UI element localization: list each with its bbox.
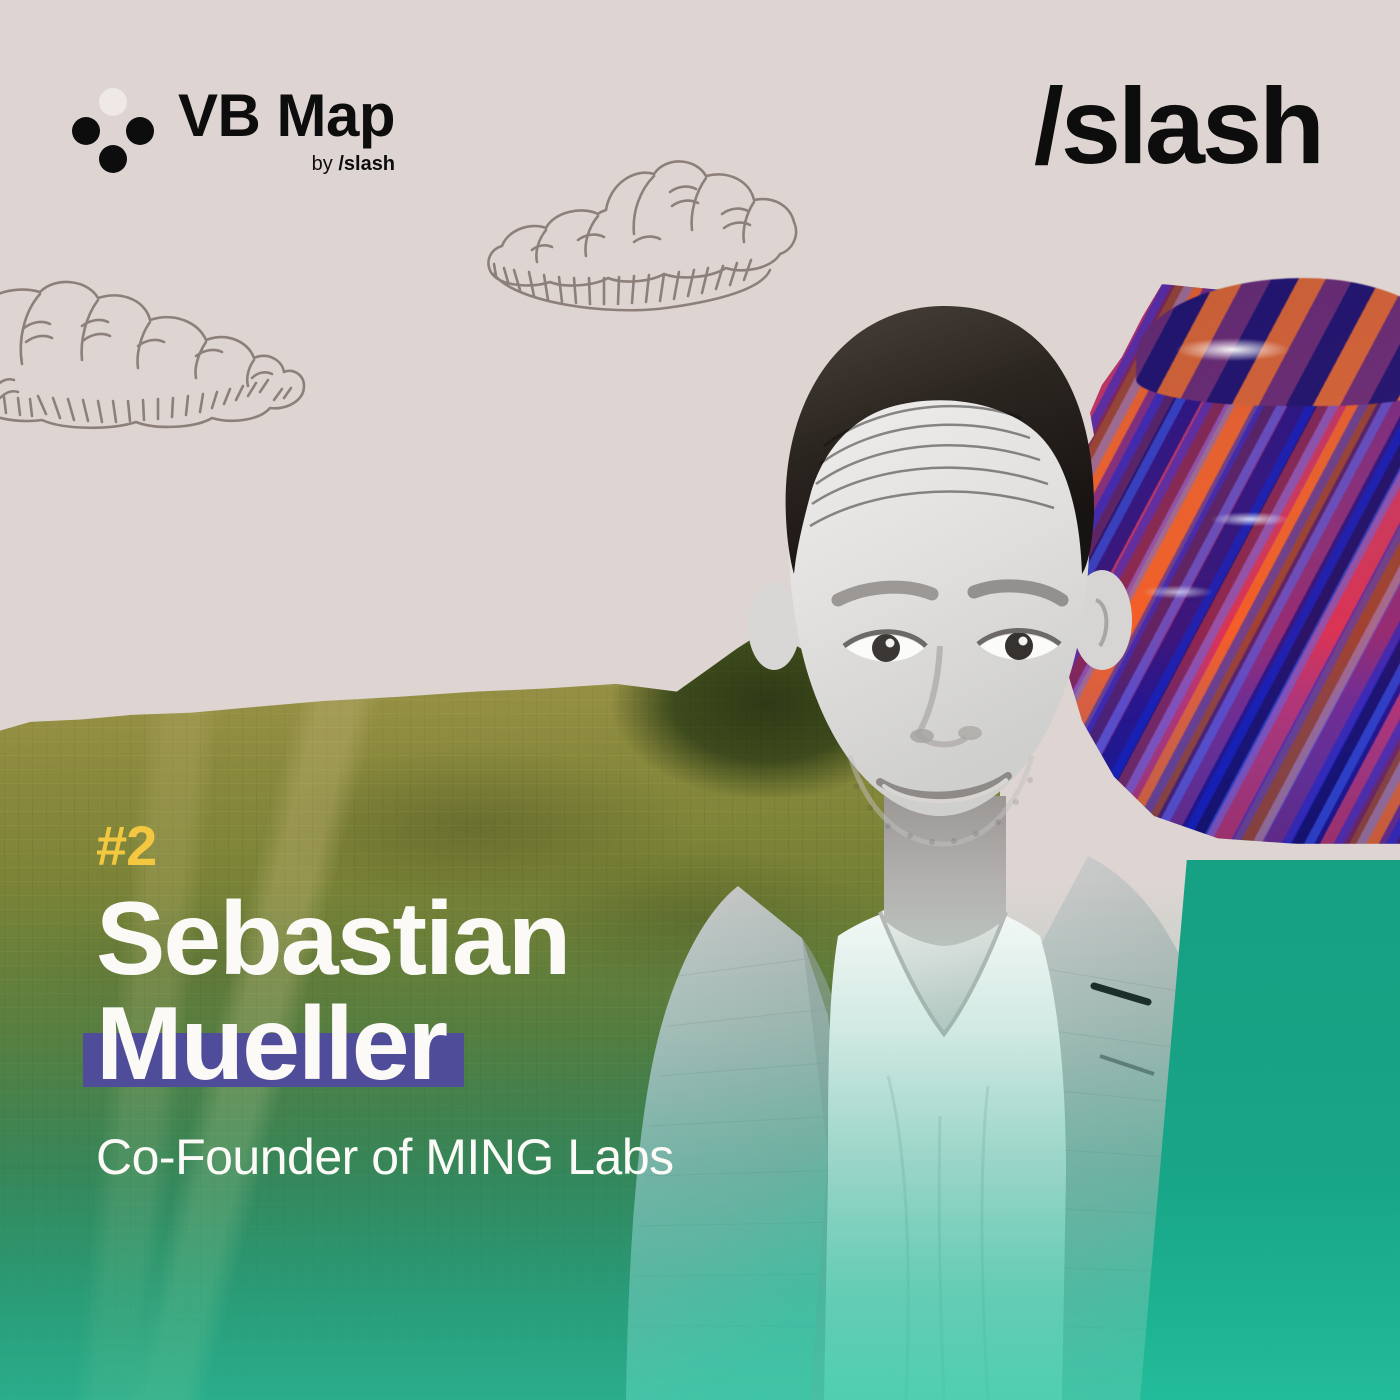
guest-last-name-row: Mueller [96,991,776,1098]
byline-prefix: by [312,153,339,175]
vb-map-byline: by /slash [178,154,395,174]
vb-map-title: VB Map [178,86,395,146]
podcast-episode-poster: VB Map by /slash /slash #2 Sebastian Mue… [0,0,1400,1400]
episode-text-block: #2 Sebastian Mueller Co-Founder of MING … [96,818,776,1185]
guest-first-name: Sebastian [96,886,776,993]
guest-last-name-highlight: Mueller [96,991,446,1098]
episode-number: #2 [96,818,776,874]
vb-map-logo[interactable]: VB Map by /slash [70,86,395,174]
byline-brand: /slash [338,153,395,175]
guest-last-name: Mueller [96,986,446,1102]
guest-role: Co-Founder of MING Labs [96,1130,776,1185]
four-dots-diamond-icon [70,88,156,174]
slash-wordmark[interactable]: /slash [1034,72,1322,180]
